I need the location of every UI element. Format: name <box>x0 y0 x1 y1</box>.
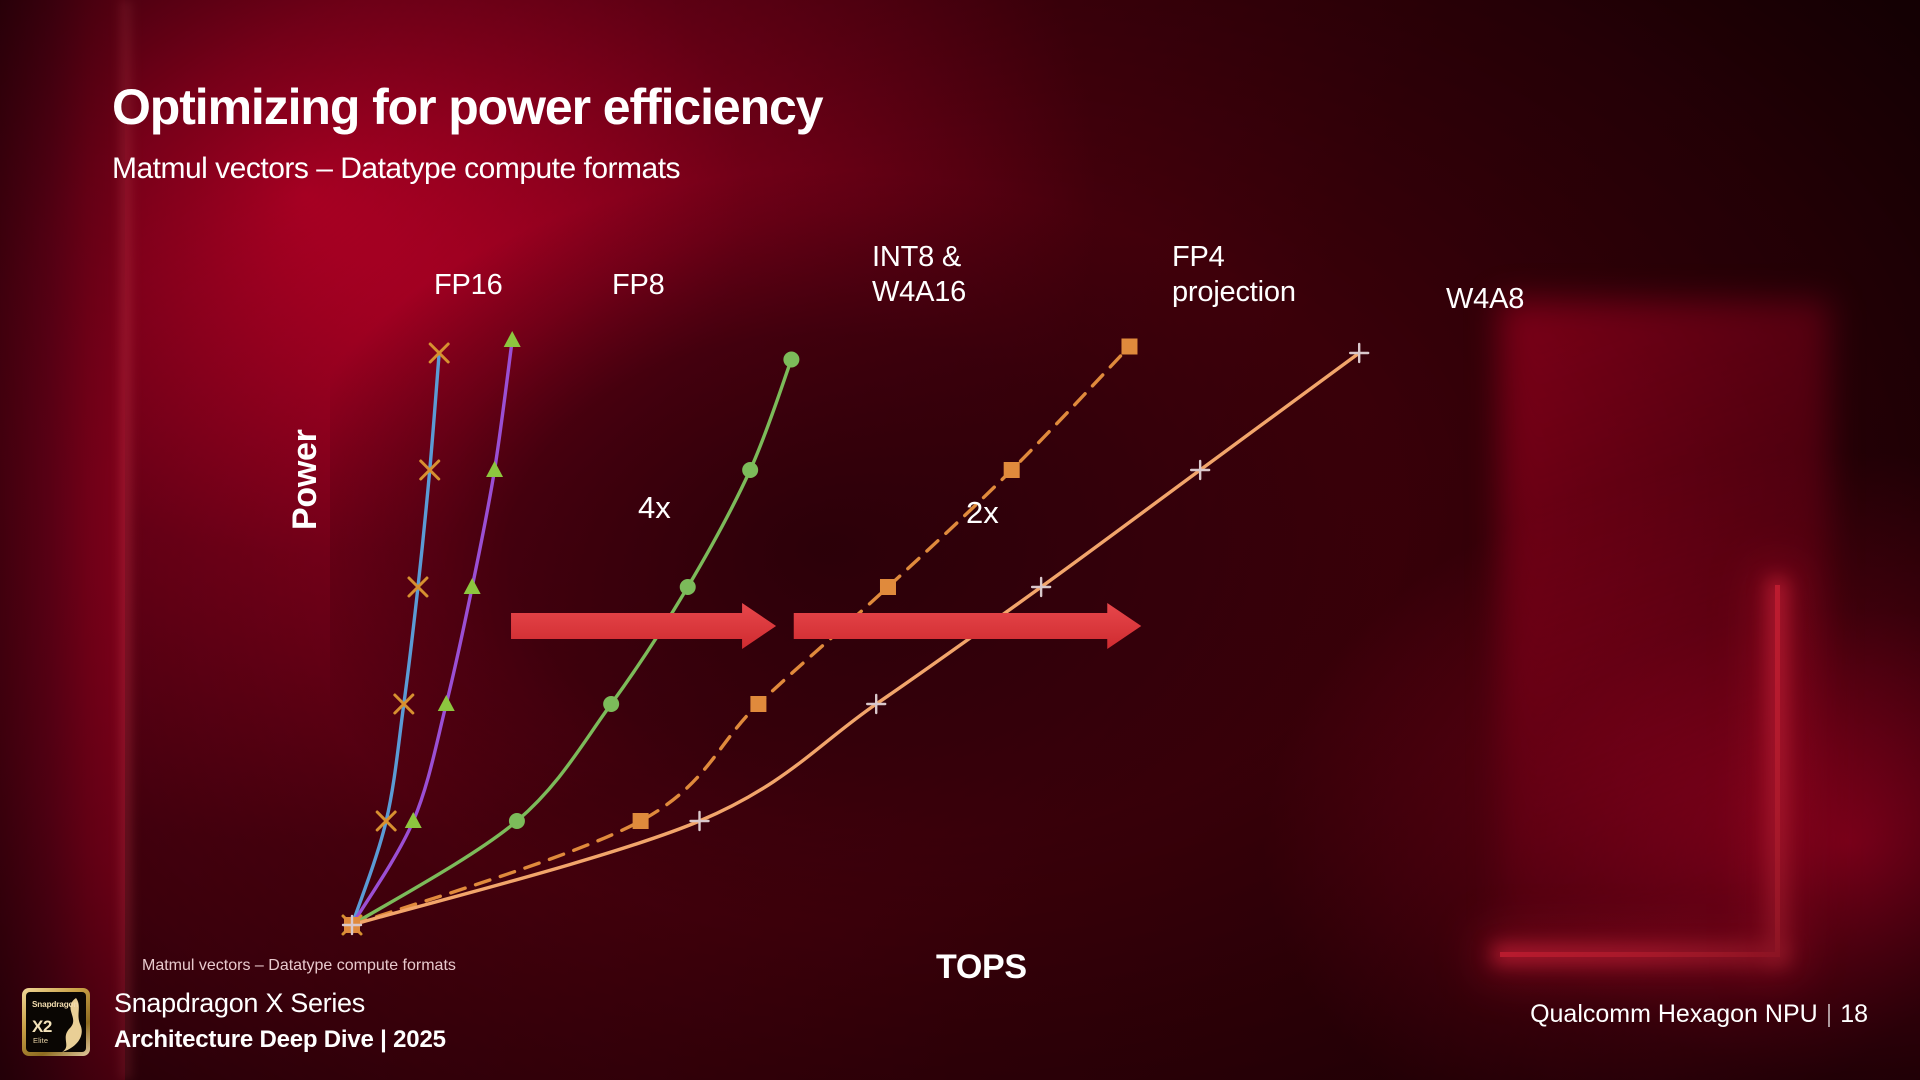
snapdragon-chip-logo: Snapdragon X2 Elite <box>22 988 90 1056</box>
axis-label-tops: TOPS <box>936 948 1027 987</box>
chip-logo-model: X2 <box>32 1017 52 1037</box>
footer-divider: | <box>1818 1000 1841 1028</box>
series-label-fp4: FP4 projection <box>1172 240 1296 311</box>
series-label-int8-w4a16: INT8 & W4A16 <box>872 240 966 311</box>
footer-right-text: Qualcomm Hexagon NPU <box>1530 1000 1818 1028</box>
series-label-fp8: FP8 <box>612 268 665 303</box>
footer-page-number: 18 <box>1840 1000 1868 1028</box>
footer-note: Matmul vectors – Datatype compute format… <box>142 957 456 975</box>
series-label-w4a8: W4A8 <box>1446 282 1524 317</box>
series-label-fp16: FP16 <box>434 268 503 303</box>
footer-right: Qualcomm Hexagon NPU|18 <box>1530 1000 1868 1029</box>
footer-brand: Snapdragon X Series <box>114 988 365 1019</box>
page-title: Optimizing for power efficiency <box>112 78 822 136</box>
background-left-panel <box>0 0 125 1080</box>
multiplier-2x: 2x <box>966 495 999 531</box>
neon-line-vertical <box>1775 585 1780 957</box>
neon-line-horizontal <box>1500 952 1780 957</box>
axis-label-power: Power <box>286 429 325 530</box>
chip-inner: Snapdragon X2 Elite <box>26 992 86 1052</box>
chip-logo-tier: Elite <box>33 1036 48 1045</box>
multiplier-4x: 4x <box>638 490 671 526</box>
background-right-glow-box <box>1500 300 1830 930</box>
footer-subtitle: Architecture Deep Dive | 2025 <box>114 1026 446 1054</box>
page-subtitle: Matmul vectors – Datatype compute format… <box>112 152 680 186</box>
chip-logo-word: Snapdragon <box>32 1000 78 1009</box>
slide-root: Optimizing for power efficiency Matmul v… <box>0 0 1920 1080</box>
